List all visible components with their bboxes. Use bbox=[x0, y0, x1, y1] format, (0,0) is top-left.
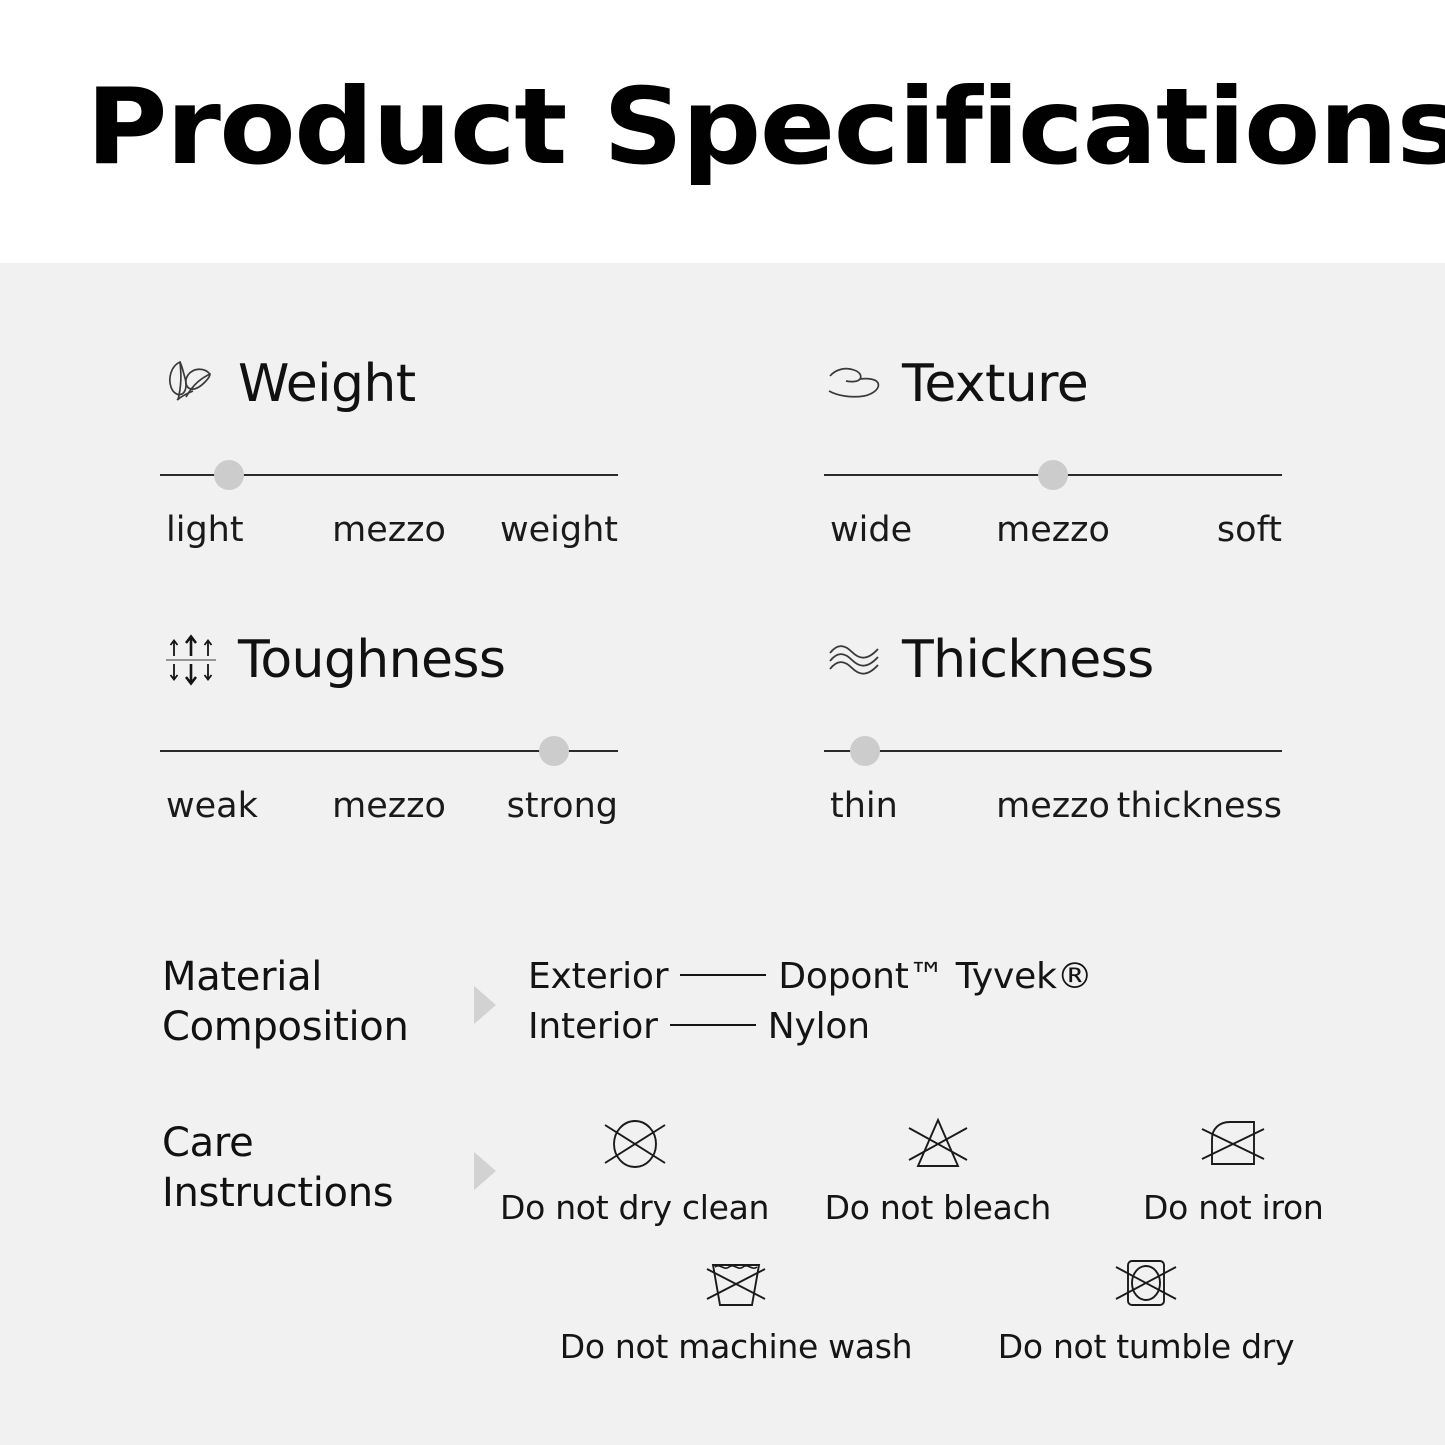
slider-knob-toughness[interactable] bbox=[539, 736, 569, 766]
slider-knob-weight[interactable] bbox=[214, 460, 244, 490]
stretch-arrows-icon bbox=[160, 632, 222, 688]
slider-label-left-toughness: weak bbox=[166, 784, 258, 830]
slider-labels-weight: light mezzo weight bbox=[160, 508, 618, 556]
material-row: InteriorNylon bbox=[528, 1002, 1093, 1052]
slider-label-right-texture: soft bbox=[1217, 508, 1282, 554]
care-item: Do not dry clean bbox=[500, 1110, 769, 1227]
do-not-bleach-icon bbox=[901, 1110, 975, 1180]
triangle-shape bbox=[474, 986, 496, 1024]
care-symbols-grid: Do not dry clean Do not bleach bbox=[500, 1110, 1360, 1366]
spec-header-toughness: Toughness bbox=[160, 624, 622, 696]
care-instructions-row: Care Instructions bbox=[162, 1118, 508, 1218]
material-label-line-2: Composition bbox=[162, 1002, 462, 1052]
spec-title-texture: Texture bbox=[902, 358, 1088, 410]
slider-label-mid-thickness: mezzo bbox=[996, 784, 1110, 830]
care-item: Do not iron bbox=[1107, 1110, 1360, 1227]
slider-thickness[interactable] bbox=[824, 736, 1282, 766]
slider-label-mid-texture: mezzo bbox=[996, 508, 1110, 554]
care-item: Do not tumble dry bbox=[956, 1249, 1336, 1366]
slider-label-right-toughness: strong bbox=[507, 784, 618, 830]
slider-labels-texture: wide mezzo soft bbox=[824, 508, 1282, 556]
spec-title-thickness: Thickness bbox=[902, 634, 1154, 686]
slider-knob-thickness[interactable] bbox=[850, 736, 880, 766]
do-not-iron-icon bbox=[1196, 1110, 1270, 1180]
material-part-interior: Interior bbox=[528, 1006, 658, 1047]
product-specifications-page: Product Specifications Weight light mez bbox=[0, 0, 1445, 1445]
slider-labels-toughness: weak mezzo strong bbox=[160, 784, 618, 832]
material-value-interior: Nylon bbox=[768, 1006, 870, 1047]
slider-track-thickness bbox=[824, 750, 1282, 752]
spec-header-weight: Weight bbox=[160, 348, 622, 420]
care-text: Do not iron bbox=[1143, 1188, 1323, 1227]
care-instructions-label: Care Instructions bbox=[162, 1118, 462, 1218]
care-text: Do not tumble dry bbox=[998, 1327, 1294, 1366]
slider-knob-texture[interactable] bbox=[1038, 460, 1068, 490]
care-text: Do not machine wash bbox=[560, 1327, 913, 1366]
slider-label-mid-toughness: mezzo bbox=[332, 784, 446, 830]
spec-block-toughness: Toughness weak mezzo strong bbox=[160, 624, 622, 832]
material-value-exterior: Dopont™ Tyvek® bbox=[778, 956, 1092, 997]
material-label-line-1: Material bbox=[162, 952, 462, 1002]
spec-header-texture: Texture bbox=[824, 348, 1286, 420]
care-label-line-2: Instructions bbox=[162, 1168, 462, 1218]
slider-labels-thickness: thin mezzo thickness bbox=[824, 784, 1282, 832]
spec-title-weight: Weight bbox=[238, 358, 416, 410]
do-not-dry-clean-icon bbox=[598, 1110, 672, 1180]
material-composition-label: Material Composition bbox=[162, 952, 462, 1052]
feather-icon bbox=[160, 356, 222, 412]
slider-label-left-weight: light bbox=[166, 508, 244, 554]
care-item: Do not machine wash bbox=[546, 1249, 926, 1366]
triangle-right-icon bbox=[462, 952, 508, 1024]
slider-toughness[interactable] bbox=[160, 736, 618, 766]
slider-label-mid-weight: mezzo bbox=[332, 508, 446, 554]
material-composition-content: ExteriorDopont™ Tyvek® InteriorNylon bbox=[508, 952, 1093, 1051]
spec-block-thickness: Thickness thin mezzo thickness bbox=[824, 624, 1286, 832]
do-not-tumble-dry-icon bbox=[1109, 1249, 1183, 1319]
spec-block-weight: Weight light mezzo weight bbox=[160, 348, 622, 556]
material-dash bbox=[680, 974, 766, 976]
spec-header-thickness: Thickness bbox=[824, 624, 1286, 696]
slider-texture[interactable] bbox=[824, 460, 1282, 490]
do-not-machine-wash-icon bbox=[699, 1249, 773, 1319]
care-text: Do not dry clean bbox=[500, 1188, 769, 1227]
material-row: ExteriorDopont™ Tyvek® bbox=[528, 952, 1093, 1002]
page-title: Product Specifications bbox=[86, 62, 1445, 193]
material-composition-row: Material Composition ExteriorDopont™ Tyv… bbox=[162, 952, 1093, 1052]
material-part-exterior: Exterior bbox=[528, 956, 668, 997]
waves-icon bbox=[824, 632, 886, 688]
care-item: Do not bleach bbox=[811, 1110, 1064, 1227]
material-dash bbox=[670, 1024, 756, 1026]
slider-weight[interactable] bbox=[160, 460, 618, 490]
spec-block-texture: Texture wide mezzo soft bbox=[824, 348, 1286, 556]
slider-label-left-thickness: thin bbox=[830, 784, 898, 830]
slider-label-right-weight: weight bbox=[500, 508, 618, 554]
slider-label-left-texture: wide bbox=[830, 508, 912, 554]
hand-icon bbox=[824, 356, 886, 412]
care-text: Do not bleach bbox=[825, 1188, 1051, 1227]
care-symbols-row-1: Do not dry clean Do not bleach bbox=[500, 1110, 1360, 1227]
page-header: Product Specifications bbox=[0, 0, 1445, 263]
triangle-shape bbox=[474, 1152, 496, 1190]
care-symbols-row-2: Do not machine wash Do not tumble dry bbox=[500, 1249, 1360, 1366]
care-label-line-1: Care bbox=[162, 1118, 462, 1168]
spec-title-toughness: Toughness bbox=[238, 634, 505, 686]
slider-label-right-thickness: thickness bbox=[1117, 784, 1282, 830]
